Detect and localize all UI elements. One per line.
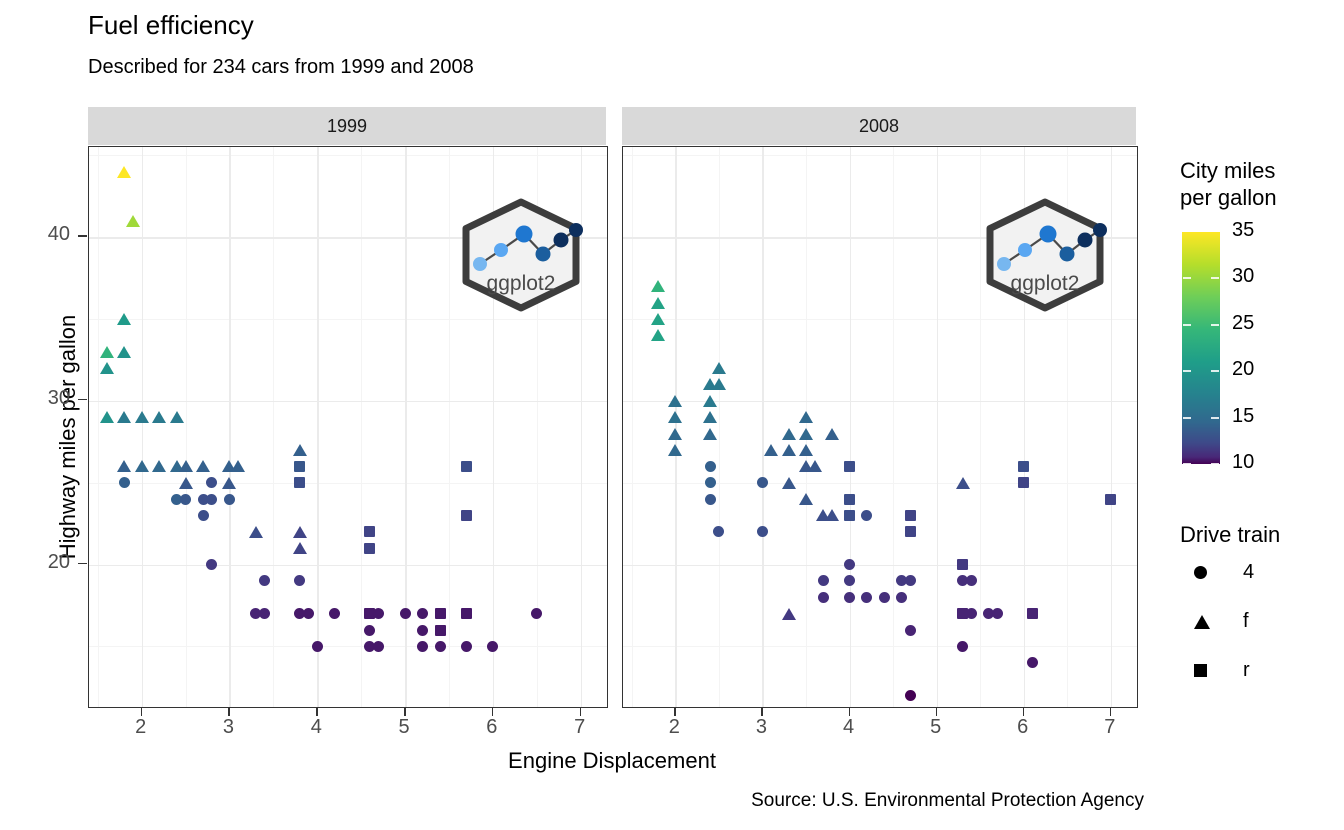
- data-point-triangle: [135, 460, 149, 472]
- data-point-circle: [1027, 657, 1038, 668]
- color-legend-tick: [1211, 370, 1219, 372]
- y-axis-tick-label: 30: [10, 387, 70, 410]
- grid-line-minor: [89, 646, 607, 647]
- data-point-triangle: [668, 428, 682, 440]
- color-legend-bar[interactable]: [1182, 232, 1220, 464]
- data-point-square: [461, 461, 472, 472]
- data-point-square: [1027, 608, 1038, 619]
- data-point-triangle: [293, 526, 307, 538]
- grid-line-minor: [89, 319, 607, 320]
- grid-line-major: [1111, 147, 1113, 707]
- data-point-circle: [905, 575, 916, 586]
- data-point-triangle: [799, 444, 813, 456]
- shape-legend-label: r: [1243, 659, 1250, 682]
- svg-text:ggplot2: ggplot2: [1011, 272, 1080, 295]
- grid-line-minor: [893, 147, 894, 707]
- data-point-triangle: [712, 378, 726, 390]
- x-axis-tick: [849, 707, 851, 716]
- data-point-triangle: [179, 477, 193, 489]
- x-axis-tick: [316, 707, 318, 716]
- color-legend-tick-label: 25: [1232, 312, 1254, 335]
- ggplot2-logo-watermark: ggplot2: [456, 196, 586, 314]
- grid-line-minor: [361, 147, 362, 707]
- x-axis-tick-label: 3: [208, 716, 248, 739]
- color-legend-title-line2: per gallon: [1180, 185, 1277, 211]
- grid-line-minor: [623, 319, 1137, 320]
- color-legend-tick: [1183, 277, 1191, 279]
- data-point-circle: [705, 461, 716, 472]
- data-point-square: [1018, 461, 1029, 472]
- data-point-triangle: [668, 411, 682, 423]
- grid-line-major: [89, 401, 607, 403]
- x-axis-tick-label: 5: [384, 716, 424, 739]
- data-point-circle: [206, 477, 217, 488]
- color-legend-tick-label: 35: [1232, 219, 1254, 242]
- grid-line-major: [89, 565, 607, 567]
- data-point-circle: [844, 559, 855, 570]
- data-point-square: [1018, 477, 1029, 488]
- color-legend-tick-label: 15: [1232, 405, 1254, 428]
- x-axis-tick-label: 7: [1090, 716, 1130, 739]
- data-point-circle: [844, 592, 855, 603]
- data-point-triangle: [651, 313, 665, 325]
- grid-line-minor: [632, 147, 633, 707]
- grid-line-major: [229, 147, 231, 707]
- grid-line-major: [405, 147, 407, 707]
- data-point-circle: [312, 641, 323, 652]
- data-point-triangle: [651, 297, 665, 309]
- grid-line-minor: [89, 155, 607, 156]
- data-point-circle: [417, 625, 428, 636]
- data-point-triangle: [293, 444, 307, 456]
- data-point-circle: [294, 575, 305, 586]
- x-axis-tick-label: 6: [472, 716, 512, 739]
- data-point-triangle: [249, 526, 263, 538]
- data-point-circle: [487, 641, 498, 652]
- grid-line-major: [623, 565, 1137, 567]
- grid-line-minor: [186, 147, 187, 707]
- svg-text:ggplot2: ggplot2: [487, 272, 556, 295]
- chart-caption: Source: U.S. Environmental Protection Ag…: [751, 789, 1144, 812]
- data-point-circle: [879, 592, 890, 603]
- grid-line-minor: [449, 147, 450, 707]
- data-point-square: [435, 608, 446, 619]
- y-axis-tick: [78, 399, 87, 401]
- x-axis-tick: [1023, 707, 1025, 716]
- data-point-triangle: [293, 542, 307, 554]
- data-point-circle: [400, 608, 411, 619]
- y-axis-tick: [78, 563, 87, 565]
- color-legend-tick: [1183, 417, 1191, 419]
- x-axis-tick: [936, 707, 938, 716]
- shape-legend-label: f: [1243, 610, 1249, 633]
- data-point-square: [294, 461, 305, 472]
- data-point-circle: [757, 477, 768, 488]
- data-point-circle: [417, 641, 428, 652]
- data-point-triangle: [117, 411, 131, 423]
- data-point-triangle: [117, 460, 131, 472]
- data-point-triangle: [808, 460, 822, 472]
- data-point-circle: [905, 625, 916, 636]
- data-point-triangle: [668, 395, 682, 407]
- data-point-circle: [259, 575, 270, 586]
- data-point-circle: [259, 608, 270, 619]
- data-point-triangle: [703, 395, 717, 407]
- data-point-circle: [303, 608, 314, 619]
- data-point-square: [294, 477, 305, 488]
- shape-legend-key-circle[interactable]: [1194, 566, 1207, 579]
- data-point-triangle: [196, 460, 210, 472]
- data-point-triangle: [231, 460, 245, 472]
- grid-line-minor: [623, 155, 1137, 156]
- data-point-circle: [757, 526, 768, 537]
- y-axis-tick-label: 20: [10, 551, 70, 574]
- facet-strip-label: 1999: [327, 116, 367, 137]
- x-axis-tick: [1110, 707, 1112, 716]
- data-point-triangle: [126, 215, 140, 227]
- data-point-triangle: [764, 444, 778, 456]
- data-point-circle: [364, 625, 375, 636]
- data-point-triangle: [825, 428, 839, 440]
- color-legend-tick: [1183, 324, 1191, 326]
- shape-legend-key-triangle[interactable]: [1194, 615, 1210, 629]
- data-point-circle: [896, 592, 907, 603]
- data-point-circle: [861, 592, 872, 603]
- data-point-triangle: [100, 411, 114, 423]
- data-point-square: [844, 461, 855, 472]
- color-legend-tick: [1211, 463, 1219, 465]
- data-point-triangle: [703, 428, 717, 440]
- x-axis-tick: [761, 707, 763, 716]
- color-legend-tick: [1211, 417, 1219, 419]
- data-point-circle: [818, 592, 829, 603]
- grid-line-minor: [623, 646, 1137, 647]
- shape-legend-key-square[interactable]: [1194, 664, 1207, 677]
- grid-line-minor: [98, 147, 99, 707]
- data-point-square: [1105, 494, 1116, 505]
- data-point-triangle: [117, 313, 131, 325]
- x-axis-tick-label: 4: [296, 716, 336, 739]
- data-point-circle: [713, 526, 724, 537]
- data-point-square: [905, 510, 916, 521]
- x-axis-tick: [674, 707, 676, 716]
- color-legend-tick: [1211, 277, 1219, 279]
- data-point-triangle: [152, 411, 166, 423]
- data-point-circle: [417, 608, 428, 619]
- data-point-square: [957, 559, 968, 570]
- data-point-triangle: [179, 460, 193, 472]
- x-axis-tick: [404, 707, 406, 716]
- color-legend-title-line1: City miles: [1180, 158, 1275, 184]
- shape-legend-title: Drive train: [1180, 522, 1280, 548]
- data-point-triangle: [170, 411, 184, 423]
- data-point-square: [461, 510, 472, 521]
- data-point-triangle: [782, 444, 796, 456]
- x-axis-tick-label: 6: [1003, 716, 1043, 739]
- color-legend-tick: [1183, 370, 1191, 372]
- data-point-triangle: [782, 428, 796, 440]
- data-point-circle: [957, 641, 968, 652]
- x-axis-tick-label: 2: [654, 716, 694, 739]
- data-point-square: [844, 494, 855, 505]
- x-axis-tick-label: 4: [829, 716, 869, 739]
- data-point-circle: [705, 477, 716, 488]
- data-point-circle: [206, 559, 217, 570]
- grid-line-minor: [89, 483, 607, 484]
- grid-line-major: [850, 147, 852, 707]
- chart-root: Fuel efficiency Described for 234 cars f…: [0, 0, 1344, 830]
- data-point-triangle: [956, 477, 970, 489]
- grid-line-major: [762, 147, 764, 707]
- color-legend-tick-label: 10: [1232, 451, 1254, 474]
- x-axis-tick-label: 7: [560, 716, 600, 739]
- data-point-triangle: [135, 411, 149, 423]
- color-legend-tick-label: 30: [1232, 265, 1254, 288]
- data-point-square: [435, 625, 446, 636]
- data-point-circle: [180, 494, 191, 505]
- data-point-triangle: [825, 509, 839, 521]
- data-point-square: [905, 526, 916, 537]
- data-point-circle: [861, 510, 872, 521]
- data-point-square: [844, 510, 855, 521]
- data-point-circle: [435, 641, 446, 652]
- x-axis-tick-label: 3: [741, 716, 781, 739]
- data-point-circle: [461, 641, 472, 652]
- facet-strip-1999: 1999: [88, 107, 606, 145]
- x-axis-tick: [228, 707, 230, 716]
- data-point-circle: [531, 608, 542, 619]
- x-axis-tick: [580, 707, 582, 716]
- grid-line-minor: [273, 147, 274, 707]
- x-axis-tick-label: 2: [121, 716, 161, 739]
- data-point-triangle: [782, 477, 796, 489]
- data-point-circle: [373, 641, 384, 652]
- x-axis-tick: [141, 707, 143, 716]
- data-point-square: [461, 608, 472, 619]
- data-point-circle: [844, 575, 855, 586]
- grid-line-major: [142, 147, 144, 707]
- data-point-circle: [905, 690, 916, 701]
- grid-line-minor: [623, 483, 1137, 484]
- data-point-triangle: [703, 411, 717, 423]
- data-point-circle: [818, 575, 829, 586]
- data-point-triangle: [222, 477, 236, 489]
- color-legend-tick: [1211, 324, 1219, 326]
- data-point-triangle: [152, 460, 166, 472]
- data-point-circle: [992, 608, 1003, 619]
- data-point-circle: [329, 608, 340, 619]
- page-title: Fuel efficiency: [88, 10, 254, 40]
- x-axis-tick-label: 5: [916, 716, 956, 739]
- grid-line-major: [317, 147, 319, 707]
- data-point-triangle: [799, 411, 813, 423]
- facet-strip-label: 2008: [859, 116, 899, 137]
- data-point-triangle: [782, 608, 796, 620]
- facet-strip-2008: 2008: [622, 107, 1136, 145]
- color-legend-tick: [1183, 463, 1191, 465]
- ggplot2-logo-watermark: ggplot2: [980, 196, 1110, 314]
- grid-line-major: [937, 147, 939, 707]
- data-point-triangle: [799, 428, 813, 440]
- data-point-circle: [373, 608, 384, 619]
- data-point-triangle: [651, 280, 665, 292]
- data-point-triangle: [651, 329, 665, 341]
- data-point-triangle: [117, 166, 131, 178]
- x-axis-title: Engine Displacement: [88, 748, 1136, 774]
- data-point-triangle: [668, 444, 682, 456]
- data-point-circle: [705, 494, 716, 505]
- color-legend-tick-label: 20: [1232, 358, 1254, 381]
- y-axis-tick-label: 40: [10, 223, 70, 246]
- data-point-circle: [966, 575, 977, 586]
- data-point-circle: [119, 477, 130, 488]
- data-point-square: [364, 526, 375, 537]
- shape-legend-label: 4: [1243, 561, 1254, 584]
- data-point-circle: [224, 494, 235, 505]
- data-point-triangle: [100, 362, 114, 374]
- data-point-square: [957, 608, 968, 619]
- data-point-circle: [206, 494, 217, 505]
- data-point-triangle: [100, 346, 114, 358]
- grid-line-major: [623, 401, 1137, 403]
- data-point-triangle: [117, 346, 131, 358]
- y-axis-tick: [78, 235, 87, 237]
- page-subtitle: Described for 234 cars from 1999 and 200…: [88, 55, 474, 79]
- data-point-square: [364, 543, 375, 554]
- data-point-triangle: [712, 362, 726, 374]
- data-point-circle: [198, 510, 209, 521]
- data-point-triangle: [799, 493, 813, 505]
- grid-line-minor: [719, 147, 720, 707]
- x-axis-tick: [492, 707, 494, 716]
